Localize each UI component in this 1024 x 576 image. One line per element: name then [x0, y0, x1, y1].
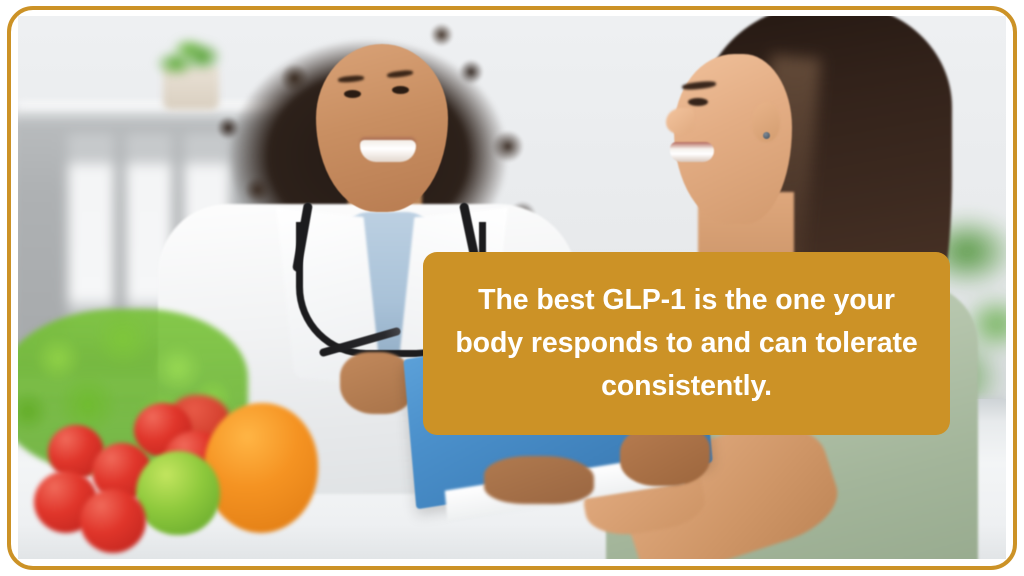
tomato-icon	[80, 489, 146, 553]
doctor-smile	[360, 140, 416, 162]
patient-nose	[666, 108, 694, 134]
doctor-eye	[392, 86, 409, 94]
doctor-eye	[344, 90, 361, 98]
patient-smile	[670, 142, 714, 162]
doctor-face	[316, 44, 448, 212]
green-apple-icon	[136, 451, 220, 535]
patient-eye	[688, 98, 708, 106]
doctor-hand-on-desk	[484, 456, 594, 504]
quote-box: The best GLP-1 is the one your body resp…	[423, 252, 950, 435]
quote-text: The best GLP-1 is the one your body resp…	[453, 279, 920, 409]
quote-card: The best GLP-1 is the one your body resp…	[0, 0, 1024, 576]
produce-group	[18, 299, 338, 559]
orange-icon	[204, 403, 318, 533]
patient-earring	[763, 132, 770, 139]
patient-face	[674, 54, 792, 224]
